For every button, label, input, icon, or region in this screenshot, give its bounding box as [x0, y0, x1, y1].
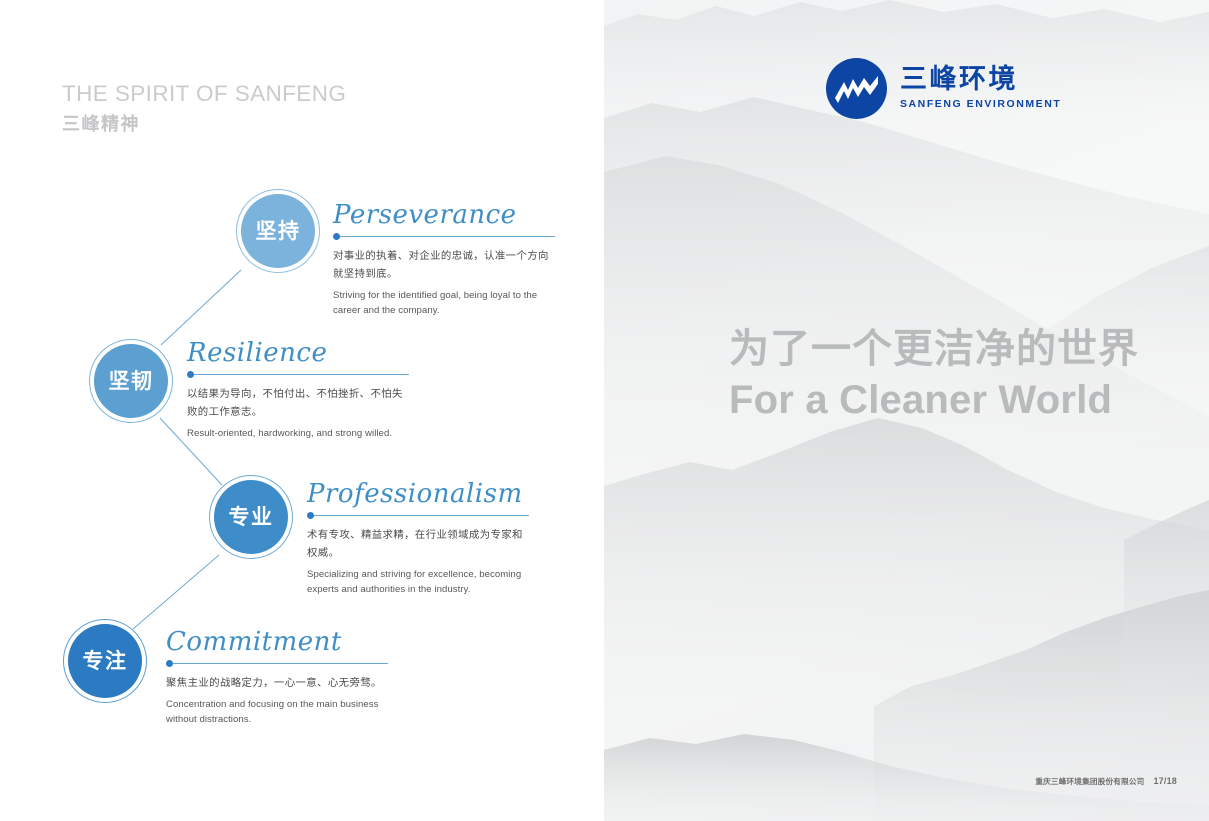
slogan-chinese: 为了一个更洁净的世界: [729, 326, 1189, 373]
divider-line: [173, 663, 388, 664]
slogan-english: For a Cleaner World: [729, 377, 1189, 424]
page-footer: 重庆三峰环境集团股份有限公司 17/18: [1035, 776, 1177, 787]
bullet-dot-icon: [166, 660, 173, 667]
mountain-wave-mark-icon: [826, 58, 887, 119]
company-logo: 三峰环境 SANFENG ENVIRONMENT: [826, 58, 1061, 119]
right-page: 三峰环境 SANFENG ENVIRONMENT 为了一个更洁净的世界 For …: [604, 0, 1209, 821]
node-badge-commitment[interactable]: 专注: [68, 624, 142, 698]
logo-name-chinese: 三峰环境: [900, 66, 1061, 94]
brochure-spread: THE SPIRIT OF SANFENG 三峰精神 坚持 Perseveran…: [0, 0, 1209, 821]
logo-wordmark: 三峰环境 SANFENG ENVIRONMENT: [900, 66, 1061, 111]
node-description-chinese: 聚焦主业的战略定力，一心一意、心无旁骛。: [166, 674, 388, 692]
node-description-english: Concentration and focusing on the main b…: [166, 698, 388, 727]
footer-company-name: 重庆三峰环境集团股份有限公司: [1035, 776, 1144, 787]
node-title-commitment: Commitment: [166, 629, 388, 655]
left-page: THE SPIRIT OF SANFENG 三峰精神 坚持 Perseveran…: [0, 0, 604, 821]
node-badge-label: 专注: [83, 651, 128, 672]
logo-name-english: SANFENG ENVIRONMENT: [900, 99, 1061, 111]
node-rule: [166, 660, 388, 667]
spirit-node-commitment: 专注 Commitment 聚焦主业的战略定力，一心一意、心无旁骛。 Conce…: [0, 0, 604, 821]
node-text-commitment: Commitment 聚焦主业的战略定力，一心一意、心无旁骛。 Concentr…: [166, 629, 388, 727]
page-number: 17/18: [1153, 776, 1177, 786]
slogan: 为了一个更洁净的世界 For a Cleaner World: [729, 326, 1189, 424]
